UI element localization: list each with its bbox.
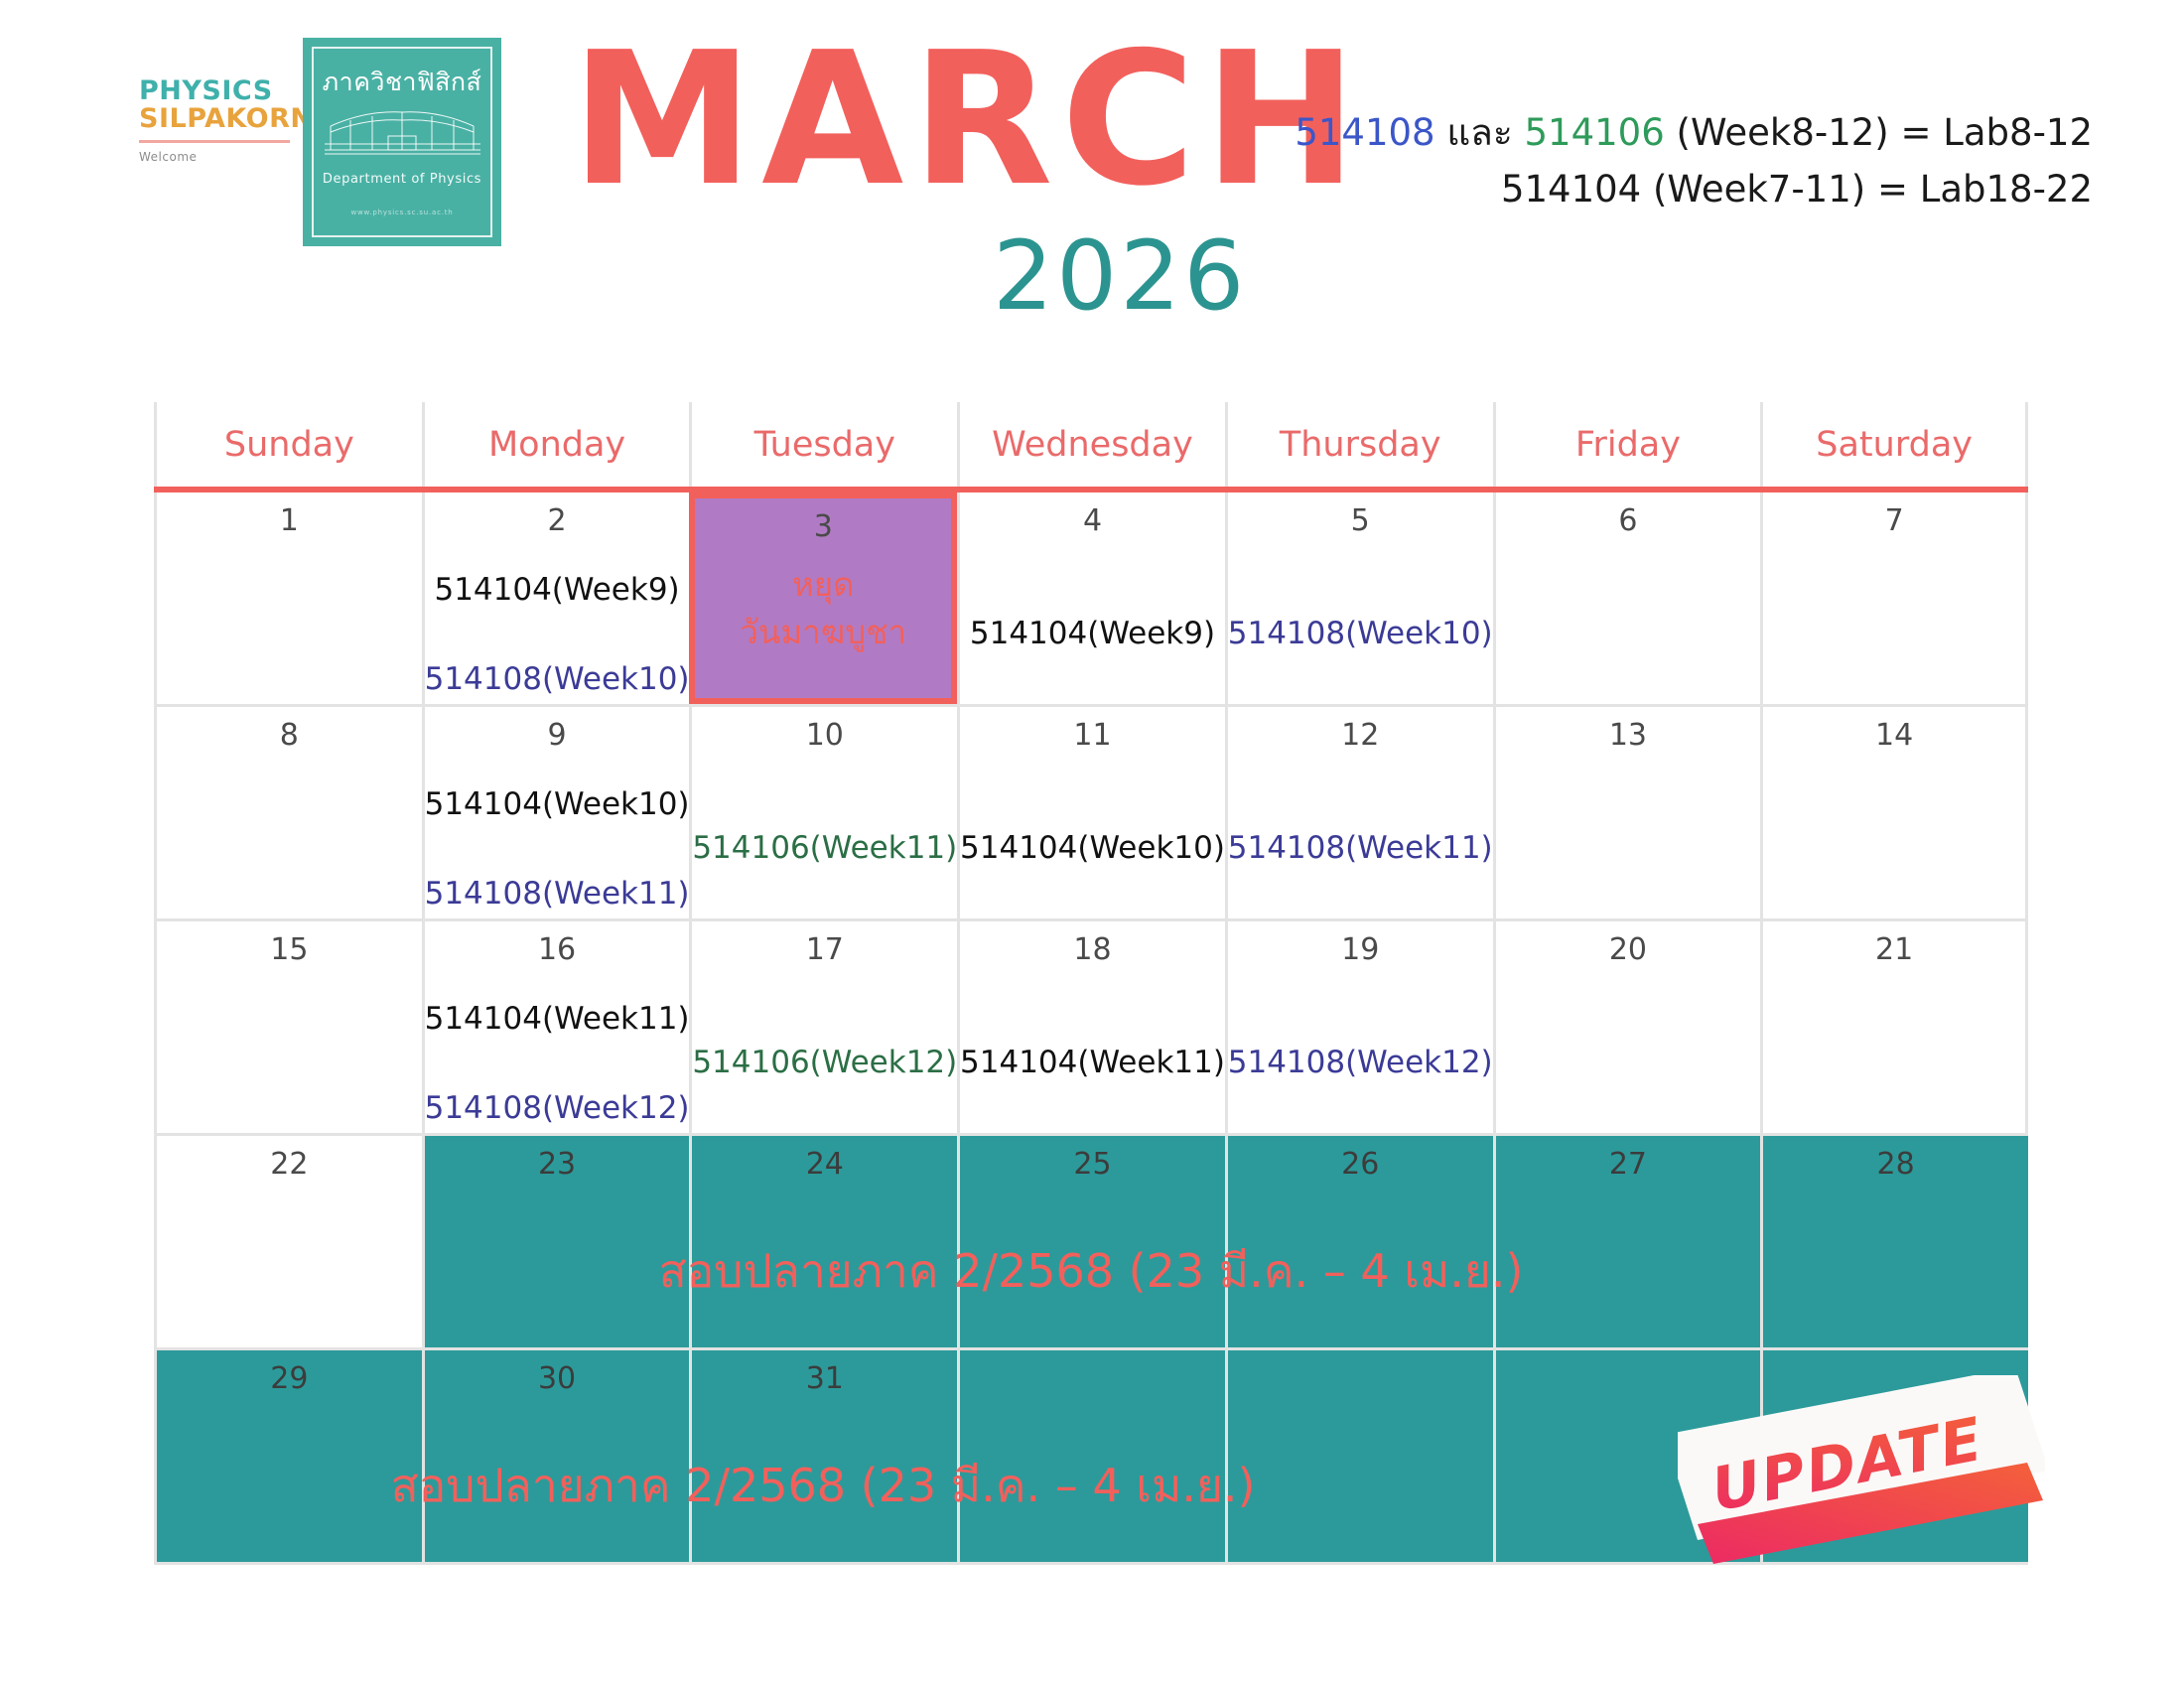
- bridge-illustration-icon: [321, 108, 484, 164]
- day-number: 23: [425, 1148, 690, 1181]
- day-cell-8[interactable]: 8: [154, 707, 422, 918]
- day-number: 29: [157, 1362, 422, 1395]
- day-cell-25[interactable]: 25: [957, 1136, 1225, 1347]
- day-cell-28[interactable]: 28: [1760, 1136, 2028, 1347]
- legend-code-514106: 514106: [1525, 111, 1665, 154]
- day-cell-9[interactable]: 9514104(Week10)514108(Week11): [422, 707, 690, 918]
- page-header: PHYSICS SILPAKORN Welcome ภาควิชาฟิสิกส์: [0, 0, 2184, 377]
- day-number: 14: [1763, 719, 2025, 752]
- day-cell-6[interactable]: 6: [1493, 492, 1761, 704]
- weekday-header-thursday: Thursday: [1225, 402, 1493, 487]
- physics-silpakorn-logo: PHYSICS SILPAKORN Welcome: [139, 77, 298, 164]
- event-label[interactable]: 514108(Week10): [425, 662, 690, 698]
- day-number: 7: [1763, 504, 2025, 537]
- day-number: 2: [425, 504, 690, 537]
- event-label[interactable]: 514104(Week10): [960, 831, 1225, 867]
- legend-note-1-rest: (Week8-12) = Lab8-12: [1665, 111, 2093, 154]
- day-cell-16[interactable]: 16514104(Week11)514108(Week12): [422, 921, 690, 1133]
- day-cell-24[interactable]: 24: [689, 1136, 957, 1347]
- holiday-label: หยุดวันมาฆบูชา: [695, 561, 951, 656]
- weekday-header-tuesday: Tuesday: [689, 402, 957, 487]
- event-label[interactable]: 514108(Week11): [1228, 831, 1493, 867]
- holiday-label-line-2: วันมาฆบูชา: [695, 609, 951, 656]
- day-cell-7[interactable]: 7: [1760, 492, 2028, 704]
- day-number: 4: [960, 504, 1225, 537]
- day-number: 24: [692, 1148, 957, 1181]
- month-title: MARCH: [571, 30, 1365, 210]
- department-url: www.physics.sc.su.ac.th: [350, 209, 453, 216]
- day-cell-29[interactable]: 29: [154, 1350, 422, 1562]
- department-card: ภาควิชาฟิสิกส์ Department of Physics www…: [303, 38, 501, 246]
- day-cell-14[interactable]: 14: [1760, 707, 2028, 918]
- day-number: 8: [157, 719, 422, 752]
- day-number: 6: [1496, 504, 1761, 537]
- calendar-week-row: 1516514104(Week11)514108(Week12)17514106…: [154, 921, 2028, 1136]
- year-title: 2026: [993, 228, 1247, 324]
- weekday-header-wednesday: Wednesday: [957, 402, 1225, 487]
- day-number: 5: [1228, 504, 1493, 537]
- day-number: 10: [692, 719, 957, 752]
- day-number: 12: [1228, 719, 1493, 752]
- day-number: 27: [1496, 1148, 1761, 1181]
- day-cell-20[interactable]: 20: [1493, 921, 1761, 1133]
- day-cell-30[interactable]: 30: [422, 1350, 690, 1562]
- event-label[interactable]: 514104(Week10): [425, 787, 690, 823]
- day-cell-15[interactable]: 15: [154, 921, 422, 1133]
- day-number: 17: [692, 933, 957, 966]
- event-label[interactable]: 514108(Week10): [1228, 617, 1493, 652]
- event-label[interactable]: 514104(Week11): [425, 1002, 690, 1038]
- weekday-header-monday: Monday: [422, 402, 690, 487]
- day-number: 13: [1496, 719, 1761, 752]
- event-label[interactable]: 514104(Week9): [434, 573, 679, 609]
- day-cell-26[interactable]: 26: [1225, 1136, 1493, 1347]
- legend-notes: 514108 และ 514106 (Week8-12) = Lab8-12 5…: [1295, 104, 2093, 218]
- day-number: 26: [1228, 1148, 1493, 1181]
- event-label[interactable]: 514108(Week11): [425, 877, 690, 913]
- day-number: 1: [157, 504, 422, 537]
- brand-line-2: SILPAKORN: [139, 105, 298, 133]
- day-cell-27[interactable]: 27: [1493, 1136, 1761, 1347]
- day-number: 21: [1763, 933, 2025, 966]
- day-number: 9: [425, 719, 690, 752]
- day-number: 11: [960, 719, 1225, 752]
- day-number: 22: [157, 1148, 422, 1181]
- department-card-inner: ภาควิชาฟิสิกส์ Department of Physics www…: [312, 47, 492, 237]
- day-cell-22[interactable]: 22: [154, 1136, 422, 1347]
- day-cell-31[interactable]: 31: [689, 1350, 957, 1562]
- event-label[interactable]: 514106(Week12): [692, 1046, 957, 1081]
- calendar-week-row: 12514104(Week9)514108(Week10)3หยุดวันมาฆ…: [154, 492, 2028, 707]
- weekday-header-row: SundayMondayTuesdayWednesdayThursdayFrid…: [154, 402, 2028, 492]
- day-cell-11[interactable]: 11514104(Week10): [957, 707, 1225, 918]
- day-cell-13[interactable]: 13: [1493, 707, 1761, 918]
- day-cell-empty[interactable]: [957, 1350, 1225, 1562]
- day-cell-1[interactable]: 1: [154, 492, 422, 704]
- day-number: 30: [425, 1362, 690, 1395]
- day-number: 3: [695, 510, 951, 543]
- day-cell-23[interactable]: 23: [422, 1136, 690, 1347]
- update-badge-graphic: UPDATE: [1678, 1375, 2045, 1574]
- day-cell-10[interactable]: 10514106(Week11): [689, 707, 957, 918]
- day-cell-5[interactable]: 5514108(Week10): [1225, 492, 1493, 704]
- brand-divider: [139, 140, 290, 143]
- department-name-thai: ภาควิชาฟิสิกส์: [323, 63, 482, 102]
- day-number: 28: [1763, 1148, 2028, 1181]
- calendar-page: PHYSICS SILPAKORN Welcome ภาควิชาฟิสิกส์: [0, 0, 2184, 1688]
- holiday-label-line-1: หยุด: [695, 561, 951, 609]
- update-badge: UPDATE: [1678, 1375, 2045, 1574]
- event-label[interactable]: 514106(Week11): [692, 831, 957, 867]
- day-number: 25: [960, 1148, 1225, 1181]
- legend-conjunction: และ: [1435, 111, 1525, 154]
- legend-note-line-1: 514108 และ 514106 (Week8-12) = Lab8-12: [1295, 104, 2093, 161]
- day-cell-4[interactable]: 4514104(Week9): [957, 492, 1225, 704]
- day-number: 20: [1496, 933, 1761, 966]
- calendar-week-row: 22232425262728สอบปลายภาค 2/2568 (23 มี.ค…: [154, 1136, 2028, 1350]
- legend-code-514108: 514108: [1295, 111, 1434, 154]
- brand-tagline: Welcome: [139, 150, 298, 164]
- event-label[interactable]: 514104(Week11): [960, 1046, 1225, 1081]
- day-number: 18: [960, 933, 1225, 966]
- day-cell-2[interactable]: 2514104(Week9)514108(Week10): [422, 492, 690, 704]
- day-number: 31: [692, 1362, 957, 1395]
- day-number: 16: [425, 933, 690, 966]
- day-cell-18[interactable]: 18514104(Week11): [957, 921, 1225, 1133]
- day-cell-empty[interactable]: [1225, 1350, 1493, 1562]
- day-cell-21[interactable]: 21: [1760, 921, 2028, 1133]
- event-label[interactable]: 514108(Week12): [1228, 1046, 1493, 1081]
- day-cell-12[interactable]: 12514108(Week11): [1225, 707, 1493, 918]
- day-cell-19[interactable]: 19514108(Week12): [1225, 921, 1493, 1133]
- weekday-header-saturday: Saturday: [1760, 402, 2028, 487]
- event-label[interactable]: 514104(Week9): [970, 617, 1215, 652]
- calendar-week-row: 89514104(Week10)514108(Week11)10514106(W…: [154, 707, 2028, 921]
- day-cell-3[interactable]: 3หยุดวันมาฆบูชา: [689, 492, 957, 704]
- weekday-header-friday: Friday: [1493, 402, 1761, 487]
- legend-note-line-2: 514104 (Week7-11) = Lab18-22: [1295, 161, 2093, 217]
- weekday-header-sunday: Sunday: [154, 402, 422, 487]
- day-number: 19: [1228, 933, 1493, 966]
- day-number: 15: [157, 933, 422, 966]
- department-name-english: Department of Physics: [323, 172, 481, 187]
- day-cell-17[interactable]: 17514106(Week12): [689, 921, 957, 1133]
- event-label[interactable]: 514108(Week12): [425, 1091, 690, 1127]
- brand-line-1: PHYSICS: [139, 77, 298, 105]
